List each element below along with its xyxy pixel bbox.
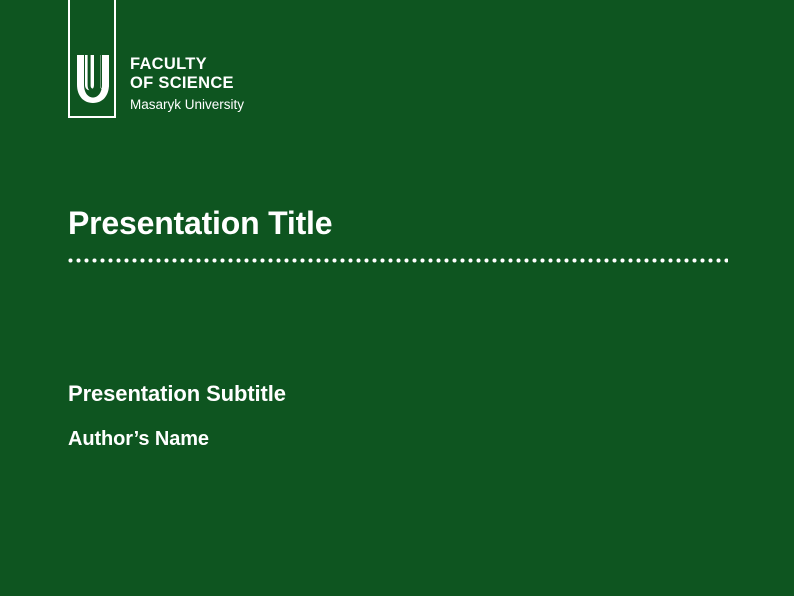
logo-faculty-line1: FACULTY [130,55,380,74]
presentation-title: Presentation Title [68,203,332,243]
author-name: Author’s Name [68,425,209,453]
mu-monogram-icon [77,55,109,103]
logo-wordmark: FACULTY OF SCIENCE Masaryk University [130,55,380,114]
logo-university-name: Masaryk University [130,96,380,114]
brand-logo: FACULTY OF SCIENCE Masaryk University [68,0,388,122]
presentation-subtitle: Presentation Subtitle [68,379,286,408]
title-slide: FACULTY OF SCIENCE Masaryk University Pr… [0,0,794,596]
logo-faculty-line2: OF SCIENCE [130,74,380,93]
dotted-divider [68,258,728,263]
